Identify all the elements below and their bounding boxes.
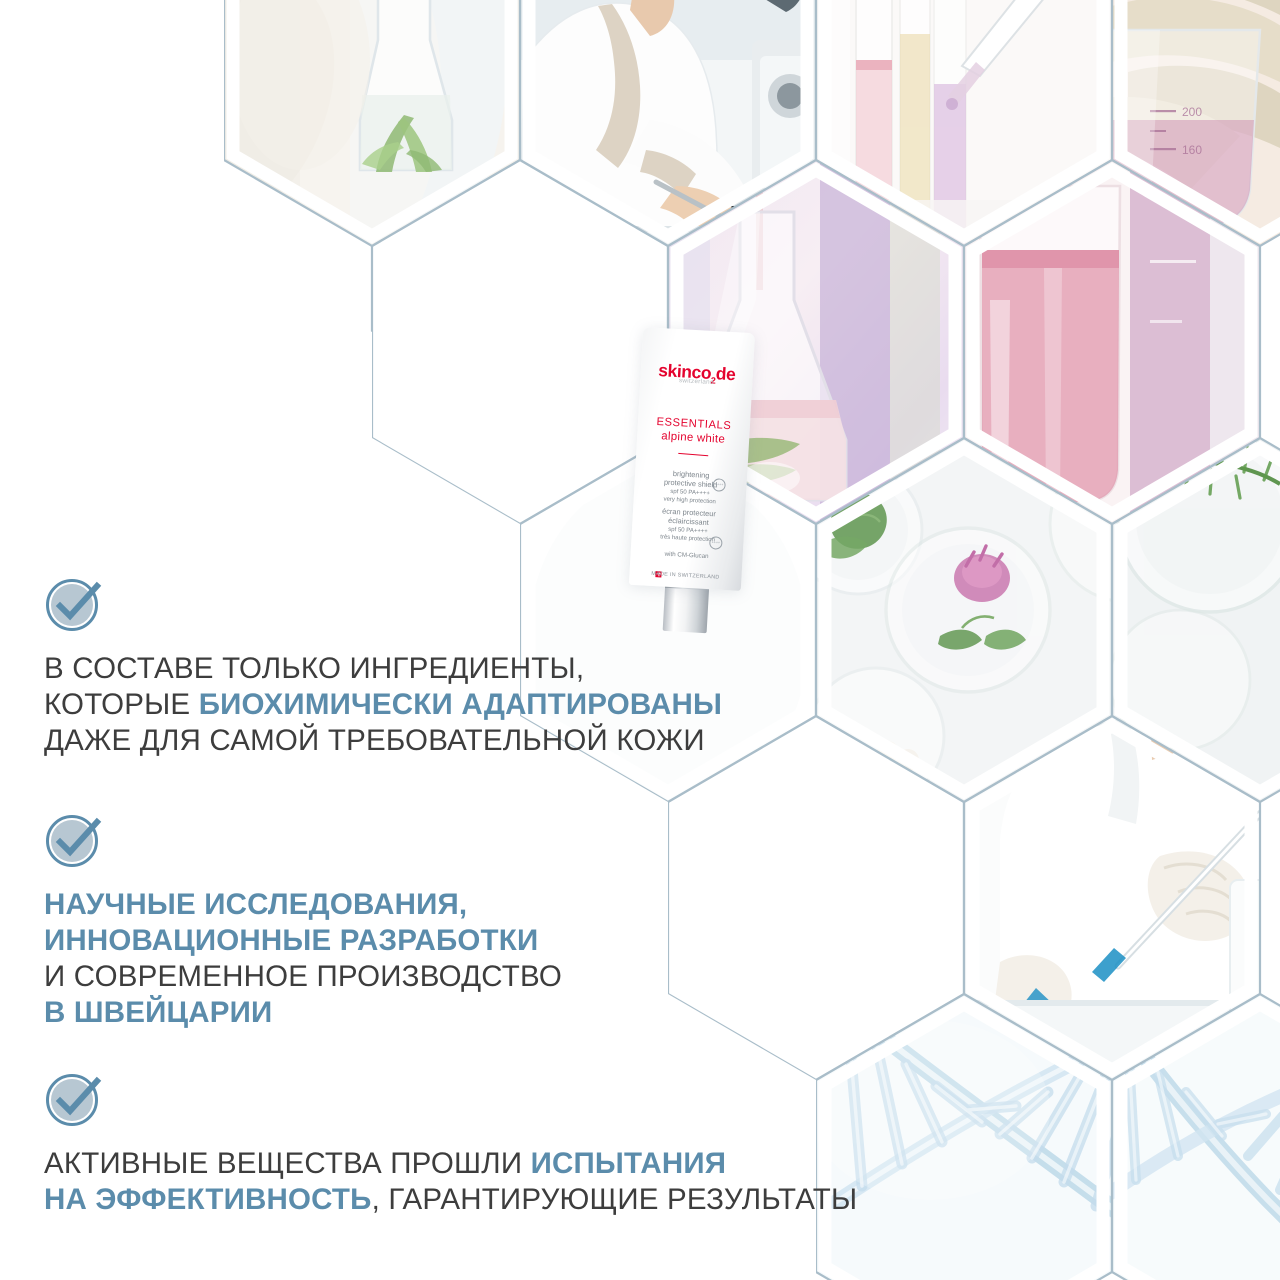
product-divider <box>678 453 708 457</box>
product-active: with CM-Glucan <box>631 549 743 562</box>
svg-text:200: 200 <box>1182 105 1202 119</box>
svg-text:160: 160 <box>1182 143 1202 157</box>
promo-banner: 200 160 <box>0 0 1280 1280</box>
pa-badge-fr: ++++ <box>709 536 723 550</box>
benefit-text-3: АКТИВНЫЕ ВЕЩЕСТВА ПРОШЛИ ИСПЫТАНИЯ НА ЭФ… <box>44 1146 857 1218</box>
benefit-item-2: НАУЧНЫЕ ИССЛЕДОВАНИЯ, ИННОВАЦИОННЫЕ РАЗР… <box>44 811 562 1031</box>
benefit-item-1: В СОСТАВЕ ТОЛЬКО ИНГРЕДИЕНТЫ, КОТОРЫЕ БИ… <box>44 575 722 759</box>
tube-body: skinco2de switzerland ESSENTIALS alpine … <box>629 327 755 591</box>
check-circle-icon <box>44 1070 106 1132</box>
check-circle-icon <box>44 575 106 637</box>
benefit-item-3: АКТИВНЫЕ ВЕЩЕСТВА ПРОШЛИ ИСПЫТАНИЯ НА ЭФ… <box>44 1070 857 1218</box>
benefit-text-2: НАУЧНЫЕ ИССЛЕДОВАНИЯ, ИННОВАЦИОННЫЕ РАЗР… <box>44 887 562 1031</box>
check-circle-icon <box>44 811 106 873</box>
benefit-text-1: В СОСТАВЕ ТОЛЬКО ИНГРЕДИЕНТЫ, КОТОРЫЕ БИ… <box>44 651 722 759</box>
